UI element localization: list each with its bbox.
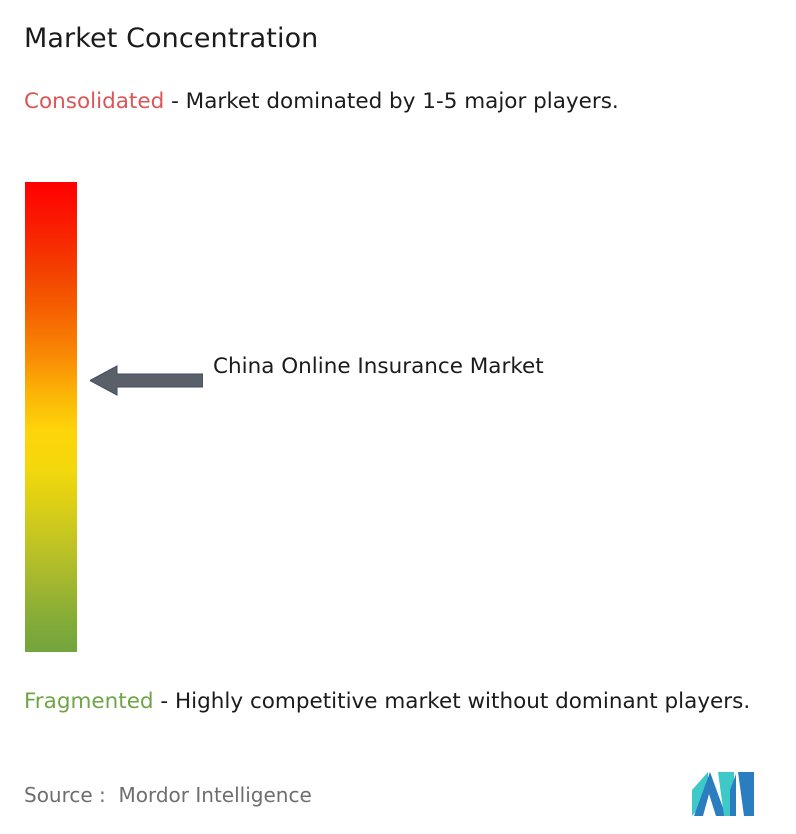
concentration-gradient-bar <box>25 182 77 652</box>
fragmented-description: Fragmented - Highly competitive market w… <box>24 686 794 718</box>
consolidated-text: - Market dominated by 1-5 major players. <box>164 89 619 114</box>
mordor-intelligence-logo-icon <box>692 772 758 816</box>
consolidated-label: Consolidated <box>24 89 164 114</box>
page-title: Market Concentration <box>24 22 318 56</box>
source-attribution: Source : Mordor Intelligence <box>24 782 312 808</box>
fragmented-label: Fragmented <box>24 689 154 714</box>
market-pointer-label: China Online Insurance Market <box>213 349 613 384</box>
fragmented-text: - Highly competitive market without domi… <box>154 689 751 714</box>
market-pointer-arrow-icon <box>90 365 203 396</box>
consolidated-description: Consolidated - Market dominated by 1-5 m… <box>24 86 772 118</box>
